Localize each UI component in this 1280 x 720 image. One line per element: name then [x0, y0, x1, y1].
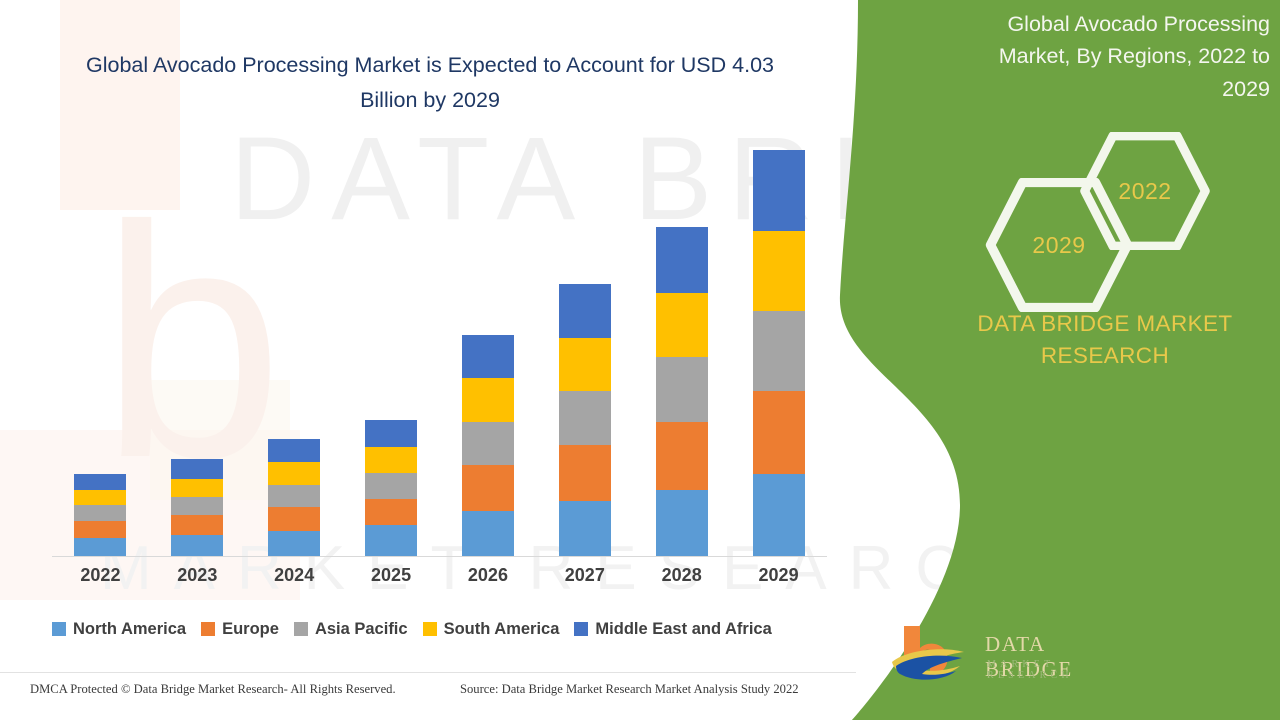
stacked-bar [171, 459, 223, 556]
stacked-bar [74, 474, 126, 556]
bar-segment [656, 357, 708, 422]
bar-segment [462, 422, 514, 466]
stacked-bar [268, 439, 320, 556]
x-axis-tick: 2026 [440, 565, 537, 597]
bar-column [536, 150, 633, 556]
legend-item[interactable]: North America [52, 620, 186, 639]
stacked-bar [753, 150, 805, 556]
bar-segment [74, 474, 126, 490]
bar-segment [268, 462, 320, 484]
bar-segment [365, 447, 417, 472]
infographic-canvas: b DATA BRIDGE MARKET RESEARCH Global Avo… [0, 0, 1280, 720]
bar-column [149, 150, 246, 556]
bar-segment [74, 538, 126, 556]
legend-label: Middle East and Africa [595, 620, 771, 639]
stacked-bar [365, 420, 417, 556]
stacked-bar [462, 335, 514, 556]
x-axis-tick: 2029 [730, 565, 827, 597]
footer-divider [0, 672, 856, 673]
legend-swatch-icon [294, 622, 308, 636]
bar-segment [74, 505, 126, 521]
stacked-bar [559, 284, 611, 556]
chart-legend: North AmericaEuropeAsia PacificSouth Ame… [52, 614, 842, 644]
bar-column [52, 150, 149, 556]
bar-segment [171, 497, 223, 515]
legend-item[interactable]: South America [423, 620, 560, 639]
x-axis-tick: 2025 [343, 565, 440, 597]
legend-item[interactable]: Asia Pacific [294, 620, 408, 639]
stacked-bar [656, 227, 708, 556]
bar-segment [656, 490, 708, 556]
brand-name: DATA BRIDGE MARKET RESEARCH [940, 308, 1270, 372]
x-axis-line [52, 556, 827, 557]
legend-label: South America [444, 620, 560, 639]
bar-segment [462, 465, 514, 511]
chart-title: Global Avocado Processing Market is Expe… [60, 48, 800, 118]
x-axis-labels: 20222023202420252026202720282029 [52, 565, 827, 597]
company-logo: DATA BRIDGE MARKET RESEARCH [890, 622, 1120, 688]
stacked-bar-chart [52, 150, 827, 556]
bar-segment [268, 507, 320, 530]
bar-segment [559, 501, 611, 556]
panel-title: Global Avocado Processing Market, By Reg… [985, 8, 1270, 105]
footer: DMCA Protected © Data Bridge Market Rese… [0, 680, 860, 710]
bar-segment [656, 422, 708, 490]
bar-segment [171, 479, 223, 497]
bar-segment [559, 391, 611, 445]
legend-label: North America [73, 620, 186, 639]
bar-column [343, 150, 440, 556]
x-axis-tick: 2027 [536, 565, 633, 597]
bar-segment [268, 531, 320, 556]
bar-segment [753, 311, 805, 391]
bar-segment [171, 515, 223, 534]
bar-segment [656, 293, 708, 357]
bar-segment [656, 227, 708, 292]
data-bridge-logo-icon [890, 622, 978, 684]
legend-swatch-icon [201, 622, 215, 636]
bar-segment [753, 231, 805, 310]
bar-segment [74, 521, 126, 537]
bar-segment [171, 459, 223, 478]
green-panel-content: Global Avocado Processing Market, By Reg… [840, 0, 1280, 720]
footer-copyright: DMCA Protected © Data Bridge Market Rese… [30, 682, 396, 697]
x-axis-tick: 2024 [246, 565, 343, 597]
bar-segment [74, 490, 126, 505]
bar-segment [753, 150, 805, 231]
bar-column [440, 150, 537, 556]
bar-segment [559, 338, 611, 391]
bar-segment [559, 445, 611, 501]
bar-column [730, 150, 827, 556]
hexagon-label-end: 2029 [985, 178, 1133, 312]
legend-swatch-icon [574, 622, 588, 636]
legend-label: Europe [222, 620, 279, 639]
bar-segment [268, 485, 320, 507]
bar-segment [365, 473, 417, 499]
bar-segment [753, 474, 805, 556]
x-axis-tick: 2028 [633, 565, 730, 597]
legend-swatch-icon [52, 622, 66, 636]
bar-segment [268, 439, 320, 462]
bar-column [633, 150, 730, 556]
legend-swatch-icon [423, 622, 437, 636]
bar-segment [462, 511, 514, 556]
legend-label: Asia Pacific [315, 620, 408, 639]
bar-segment [365, 525, 417, 556]
bar-segment [462, 378, 514, 422]
bar-segment [171, 535, 223, 556]
bar-segment [753, 391, 805, 473]
x-axis-tick: 2022 [52, 565, 149, 597]
legend-item[interactable]: Middle East and Africa [574, 620, 771, 639]
logo-subtitle: MARKET RESEARCH [987, 659, 1120, 681]
footer-source: Source: Data Bridge Market Research Mark… [460, 682, 799, 697]
bar-segment [462, 335, 514, 378]
hexagon-badges: 2022 2029 [840, 130, 1280, 300]
bar-segment [365, 420, 417, 447]
hexagon-badge-end: 2029 [985, 178, 1133, 312]
legend-item[interactable]: Europe [201, 620, 279, 639]
bar-column [246, 150, 343, 556]
x-axis-tick: 2023 [149, 565, 246, 597]
bar-segment [365, 499, 417, 525]
bar-segment [559, 284, 611, 338]
